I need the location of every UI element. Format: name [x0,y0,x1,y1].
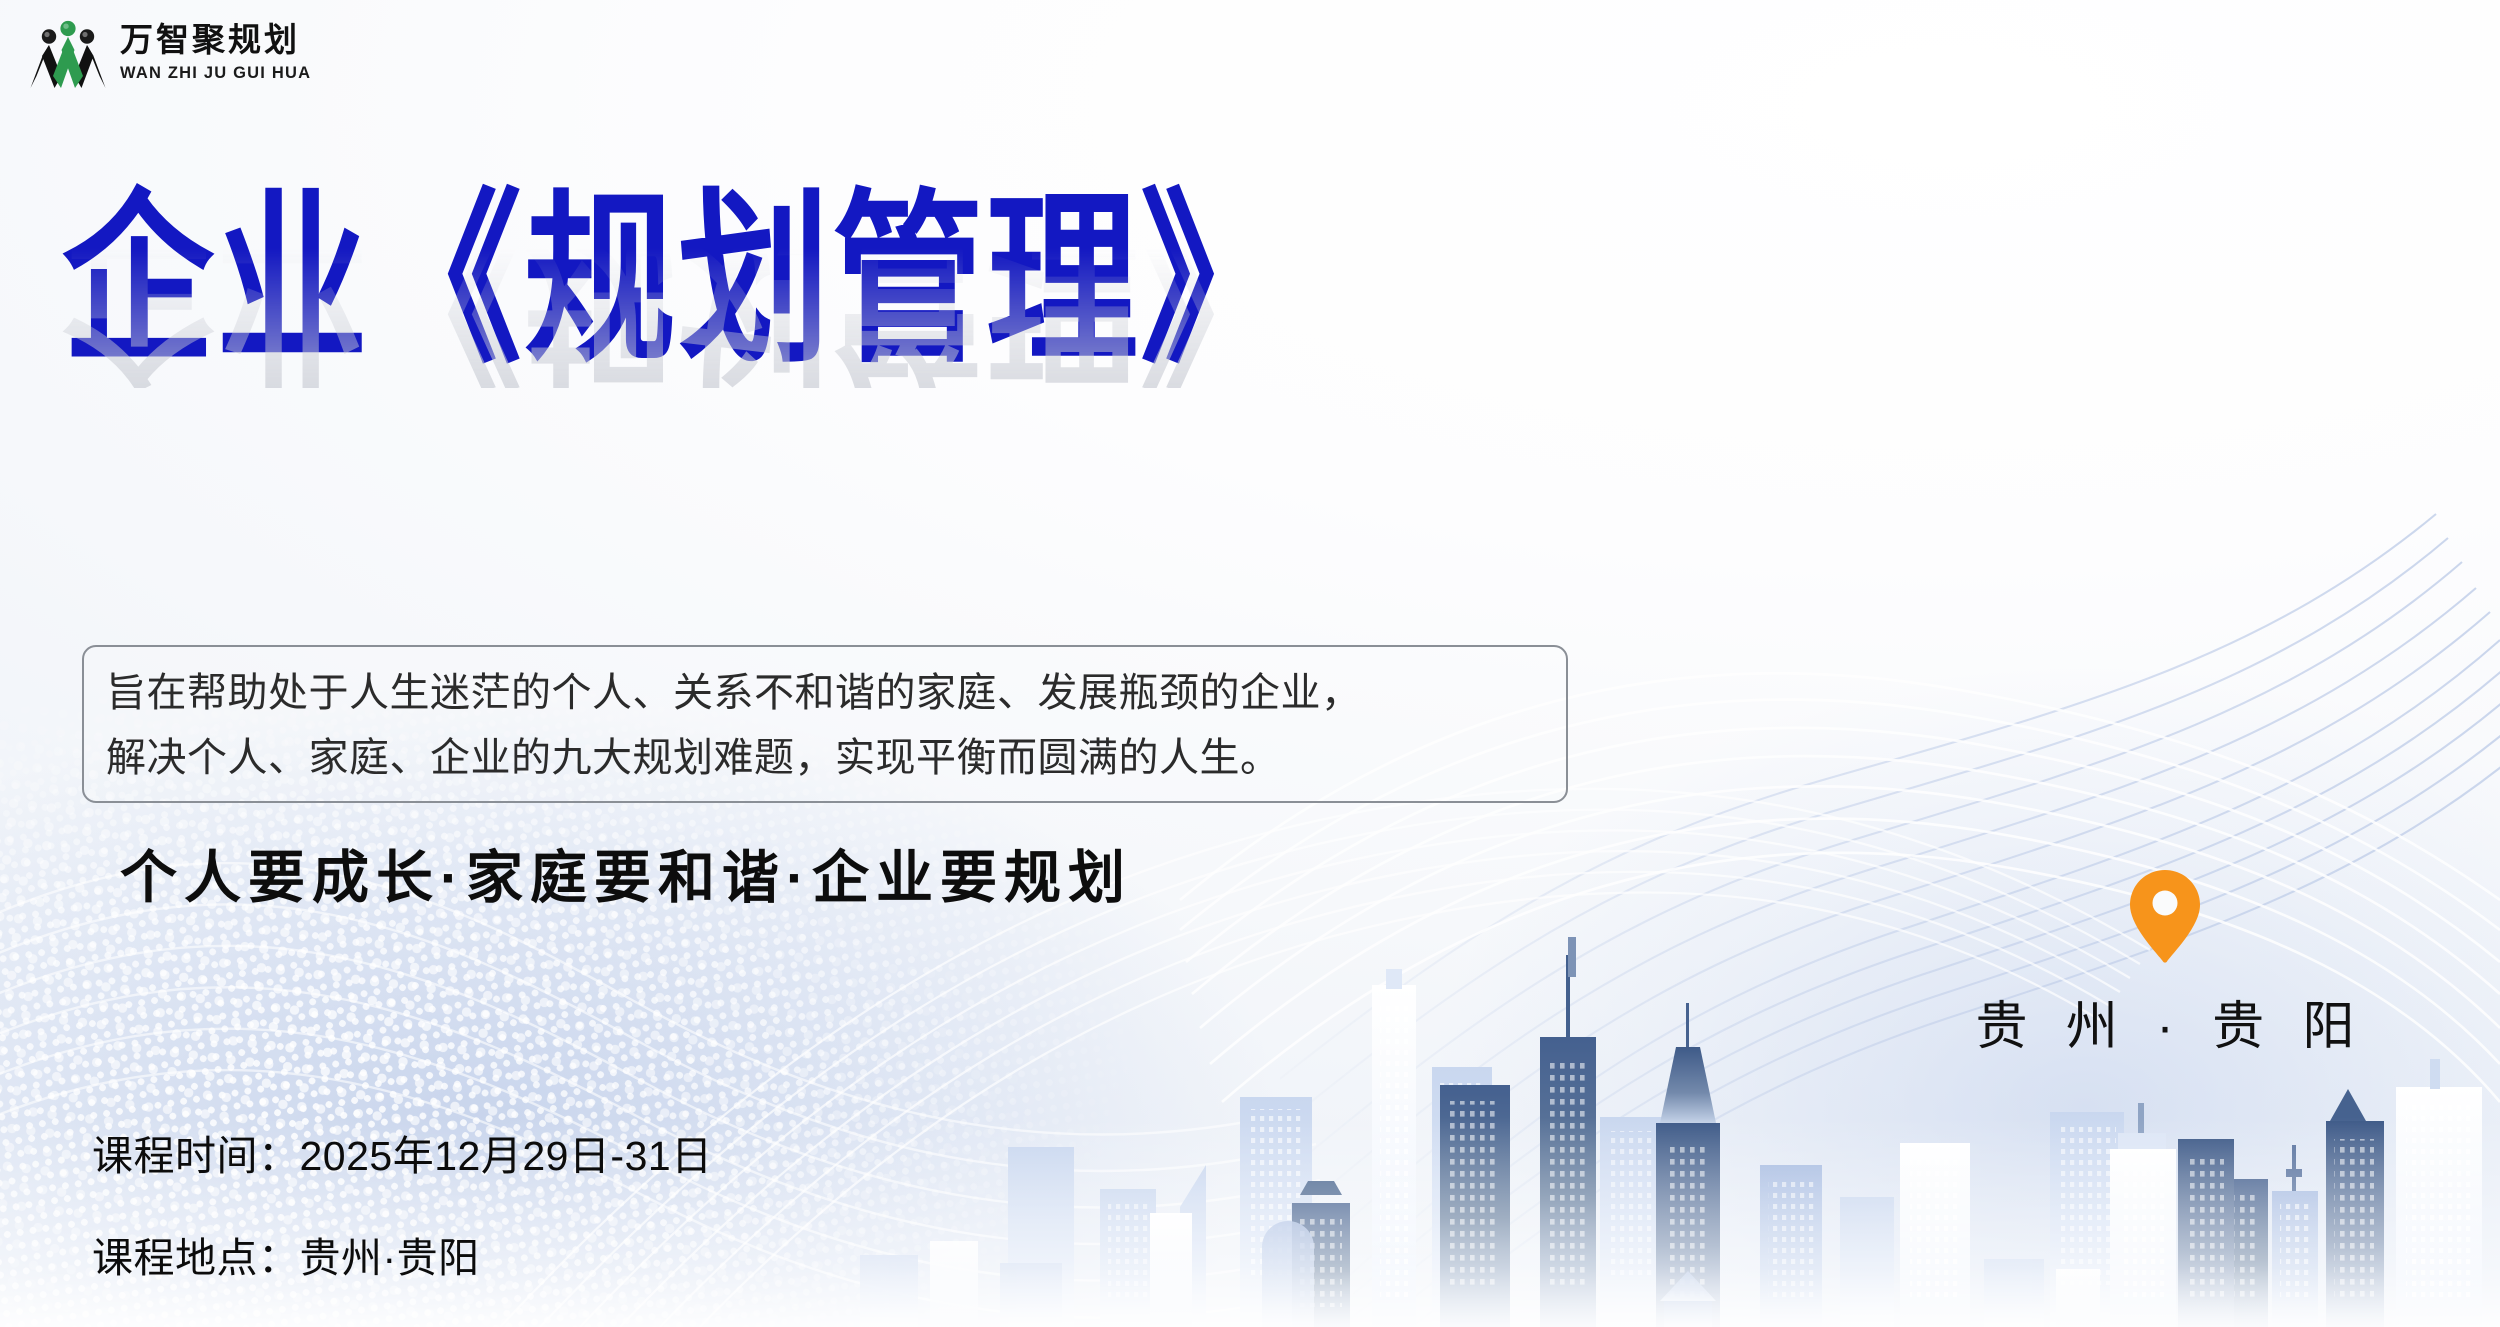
slogan-text: 个人要成长·家庭要和谐·企业要规划 [120,832,1132,914]
description-line-1: 旨在帮助处于人生迷茫的个人、关系不和谐的家庭、发展瓶颈的企业， [106,661,1544,726]
three-people-mark-icon [30,16,106,90]
brand-logo[interactable]: 万智聚规划 WAN ZHI JU GUI HUA [30,16,311,90]
course-place: 课程地点：贵州·贵阳 [92,1224,713,1284]
course-time: 课程时间：2025年12月29日-31日 [92,1122,713,1182]
map-pin-icon [2126,868,2204,964]
poster-canvas: 万智聚规划 WAN ZHI JU GUI HUA 企业《规划管理》 企业《规划管… [0,0,2500,1327]
location-city-text: 贵 州 · 贵 阳 [1963,984,2366,1059]
description-line-2: 解决个人、家庭、企业的九大规划难题，实现平衡而圆满的人生。 [106,726,1544,791]
location-badge: 贵 州 · 贵 阳 [1955,868,2375,1059]
description-box: 旨在帮助处于人生迷茫的个人、关系不和谐的家庭、发展瓶颈的企业， 解决个人、家庭、… [82,645,1568,803]
page-title-reflection: 企业《规划管理》 [62,228,1294,388]
brand-name-en: WAN ZHI JU GUI HUA [120,64,311,83]
hero-title-block: 企业《规划管理》 企业《规划管理》 [62,188,1622,340]
course-info-block: 课程时间：2025年12月29日-31日 课程地点：贵州·贵阳 [92,1122,713,1326]
brand-name-cn: 万智聚规划 [120,23,311,59]
